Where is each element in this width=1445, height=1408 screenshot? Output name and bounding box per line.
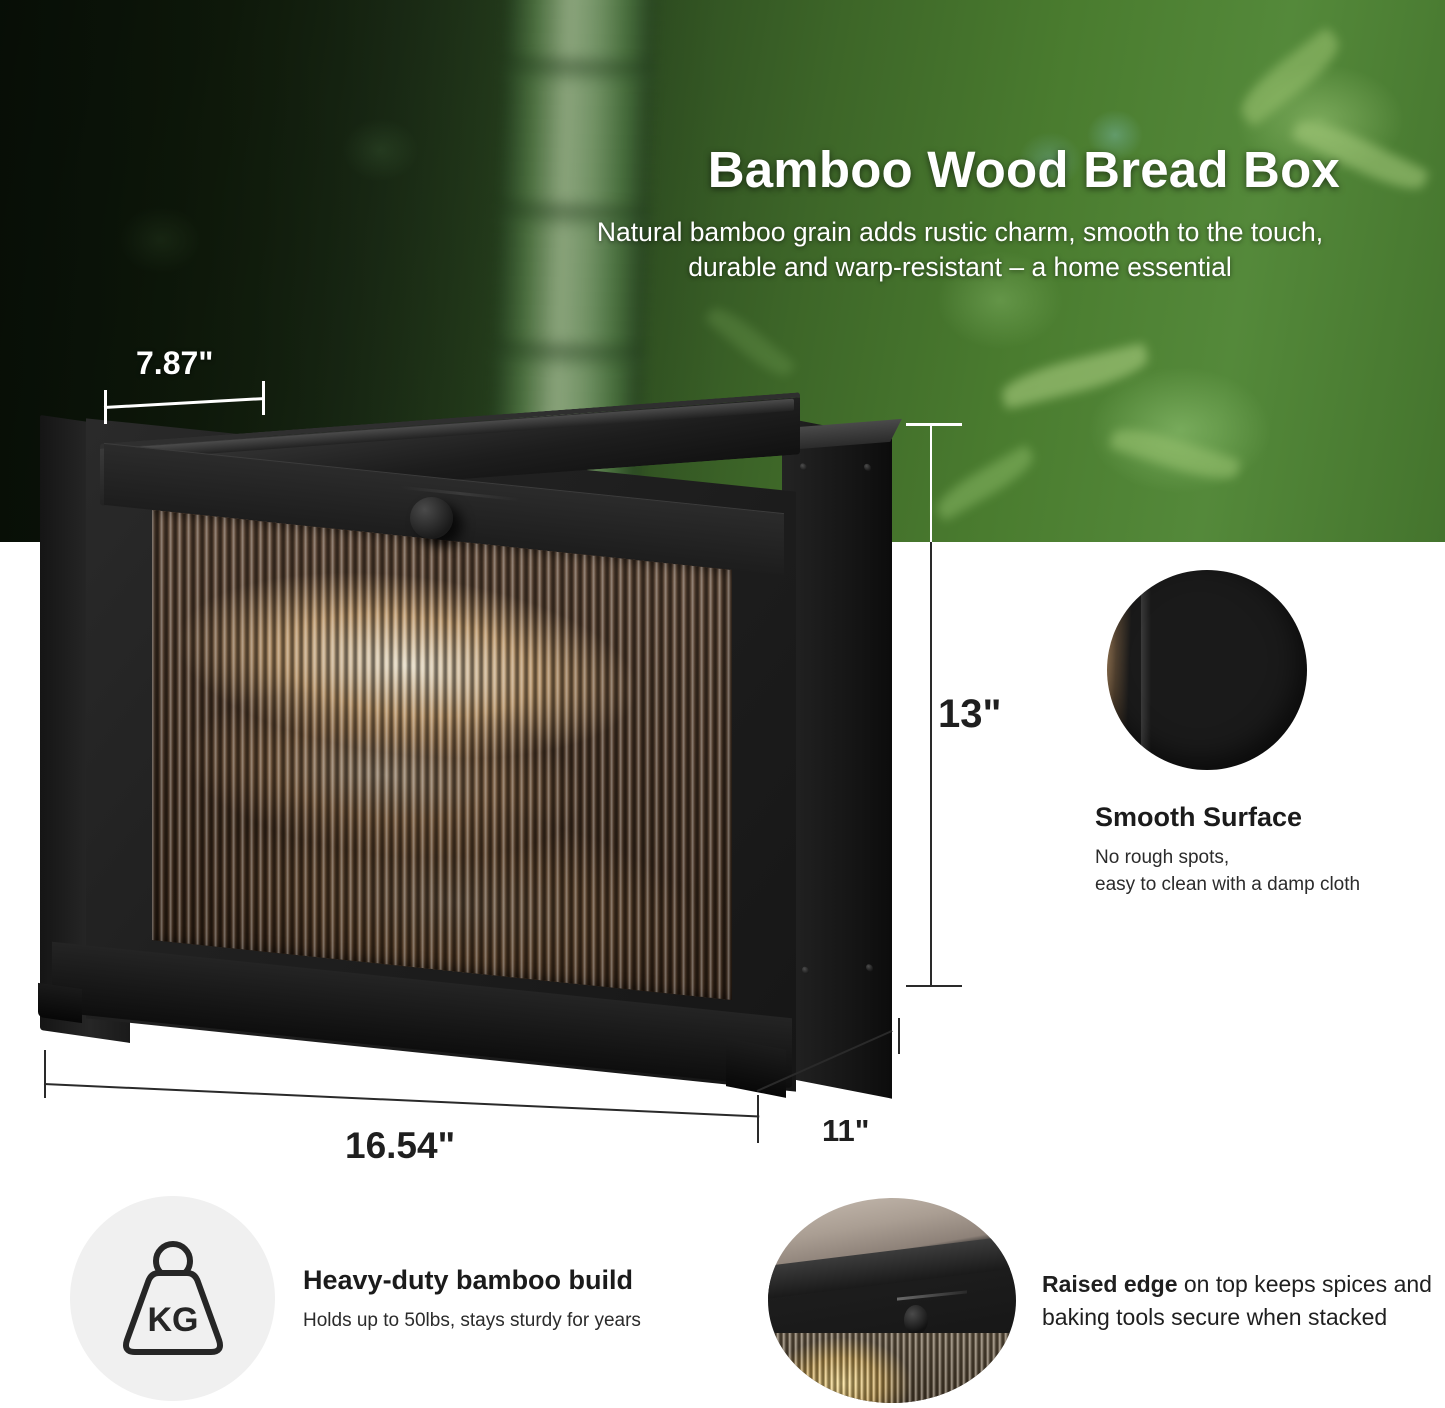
feature-raised-edge-paragraph: Raised edge on top keeps spices and baki… [1042, 1268, 1442, 1333]
dimension-tick-height-bottom [906, 985, 962, 987]
bread-box-door-knob[interactable] [410, 497, 453, 539]
smooth-surface-title: Smooth Surface [1095, 802, 1425, 833]
bread-box-fluted-glass-door[interactable] [152, 510, 732, 1000]
closeup-door-seam [897, 1291, 967, 1301]
dimension-tick-width-left [44, 1050, 46, 1098]
product-image-with-dimensions: 7.87" 13" 16.54" 11" [0, 0, 1000, 1185]
dimension-label-depth-top: 7.87" [136, 345, 213, 382]
dimension-label-side-depth: 11" [822, 1113, 869, 1149]
dimension-bar-height-upper [930, 423, 932, 542]
dimension-bar-height-lower [930, 542, 932, 986]
smooth-surface-body-line1: No rough spots, [1095, 845, 1425, 872]
kg-icon-label: KG [147, 1301, 198, 1339]
feature-raised-edge-text: Raised edge on top keeps spices and baki… [1042, 1268, 1442, 1333]
kg-weight-icon: KG [113, 1234, 233, 1364]
feature-raised-edge-lead: Raised edge [1042, 1271, 1178, 1297]
dimension-label-height: 13" [938, 692, 1001, 737]
closeup-fluted-glass [768, 1333, 1016, 1403]
bread-box-right-side-panel [782, 417, 892, 1098]
smooth-surface-body: No rough spots, easy to clean with a dam… [1095, 845, 1425, 899]
dimension-bar-width [44, 1083, 759, 1117]
kg-badge-circle: KG [70, 1196, 275, 1401]
feature-raised-edge: Raised edge on top keeps spices and baki… [768, 1198, 1442, 1403]
surface-sheen-highlight [1141, 570, 1151, 770]
smooth-surface-callout: Smooth Surface No rough spots, easy to c… [1095, 570, 1425, 899]
bread-box-left-foot [38, 983, 82, 1023]
smooth-surface-body-line2: easy to clean with a damp cloth [1095, 872, 1425, 899]
dimension-tick-height-top [906, 423, 962, 426]
feature-heavy-duty: KG Heavy-duty bamboo build Holds up to 5… [70, 1196, 641, 1401]
dimension-tick-side-depth [898, 1018, 900, 1054]
feature-heavy-duty-text: Heavy-duty bamboo build Holds up to 50lb… [303, 1265, 641, 1332]
feature-heavy-duty-title: Heavy-duty bamboo build [303, 1265, 641, 1296]
feature-heavy-duty-subtitle: Holds up to 50lbs, stays sturdy for year… [303, 1310, 641, 1332]
bread-box-right-foot [726, 1038, 786, 1098]
closeup-top-shelf [768, 1229, 1016, 1301]
dimension-label-width: 16.54" [345, 1125, 455, 1167]
smooth-surface-closeup-image [1107, 570, 1307, 770]
closeup-door-knob [904, 1305, 928, 1335]
raised-edge-closeup-image [768, 1198, 1016, 1403]
dimension-bar-depth [104, 397, 264, 409]
dimension-tick-width-right [757, 1095, 759, 1143]
